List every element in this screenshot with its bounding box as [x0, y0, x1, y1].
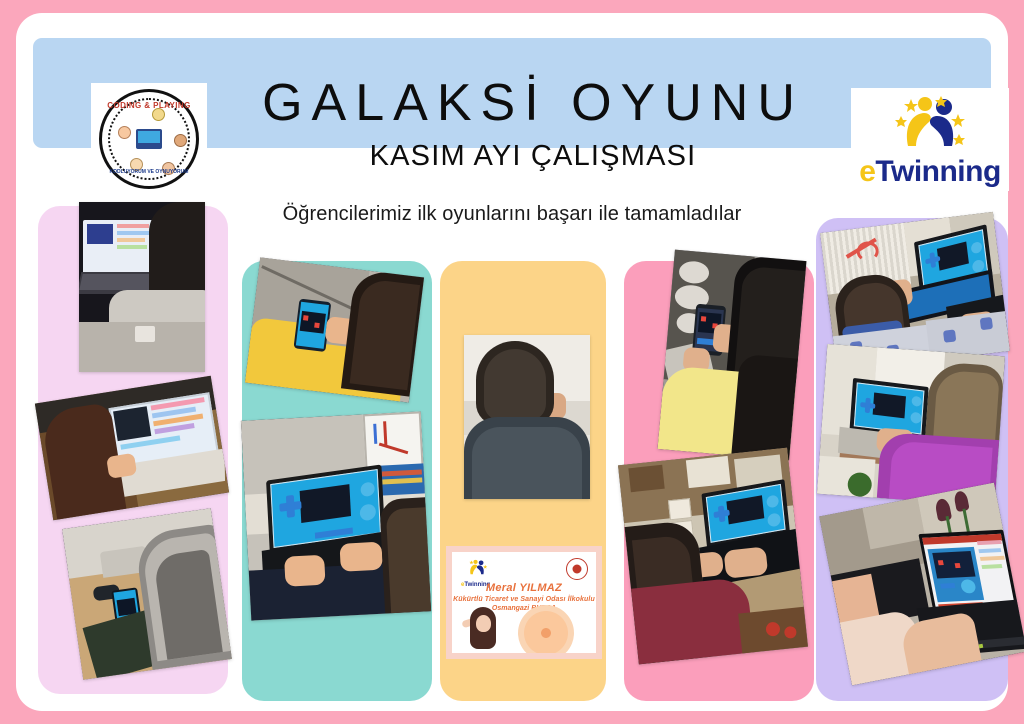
namecard-etwinning-logo: eTwinning	[461, 559, 505, 583]
badge-child-icon-3	[174, 134, 187, 147]
photo-column-2	[242, 261, 432, 701]
school-name: Kükürtlü Ticaret ve Sanayi Odası İlkokul…	[452, 596, 596, 603]
etwinning-mark-icon	[884, 94, 976, 152]
teacher-name: Meral YILMAZ	[452, 582, 596, 594]
photo-girl-scratch-laptop	[35, 376, 229, 520]
etwinning-rest: Twinning	[875, 155, 1000, 188]
photo-phone-grey-hair	[62, 508, 232, 679]
poster-panel: CODING & PLAYING KODLUYORUM VE OYNUYORUM…	[16, 13, 1008, 711]
photo-column-3: eTwinning Meral YILMAZ Kükürtlü Ticaret …	[440, 261, 606, 701]
photo-column-1	[38, 206, 228, 694]
photo-boy-grey-sweater-phone	[464, 335, 590, 499]
flower-decoration	[518, 605, 574, 653]
photo-column-4	[624, 261, 814, 701]
coding-and-playing-logo: CODING & PLAYING KODLUYORUM VE OYNUYORUM	[91, 83, 207, 195]
namecard-etwinning-mark-icon	[461, 559, 493, 576]
badge-child-icon-1	[118, 126, 131, 139]
title-block: GALAKSİ OYUNU KASIM AYI ÇALIŞMASI	[223, 76, 843, 173]
photo-column-5	[816, 218, 1008, 701]
header-bar: CODING & PLAYING KODLUYORUM VE OYNUYORUM…	[33, 38, 991, 148]
badge-laptop-icon	[136, 129, 162, 149]
badge-circle: CODING & PLAYING KODLUYORUM VE OYNUYORUM	[99, 89, 199, 189]
page-subtitle: KASIM AYI ÇALIŞMASI	[223, 140, 843, 173]
photo-girl-maroon-laptop	[618, 448, 808, 665]
teacher-name-card: eTwinning Meral YILMAZ Kükürtlü Ticaret …	[446, 546, 602, 659]
photo-boy-yellow-shirt-phone	[658, 250, 807, 461]
photo-laptop-dark-room	[79, 202, 205, 372]
photo-purple-sweater-laptop	[817, 344, 1005, 506]
teacher-avatar	[462, 605, 504, 653]
photo-yellow-sweater-phone	[245, 257, 424, 402]
photo-boy-blue-laptop-game	[241, 411, 431, 620]
etwinning-wordmark: eTwinning	[851, 157, 1009, 187]
badge-bottom-text: KODLUYORUM VE OYNUYORUM	[102, 169, 196, 175]
etwinning-e: e	[859, 155, 875, 188]
etwinning-logo: eTwinning	[851, 88, 1009, 191]
badge-child-icon-2	[152, 108, 165, 121]
photo-hands-laptop-scratch	[819, 483, 1024, 686]
page-title: GALAKSİ OYUNU	[223, 76, 843, 131]
ministry-seal-icon	[566, 558, 588, 580]
badge-top-text: CODING & PLAYING	[102, 101, 196, 110]
